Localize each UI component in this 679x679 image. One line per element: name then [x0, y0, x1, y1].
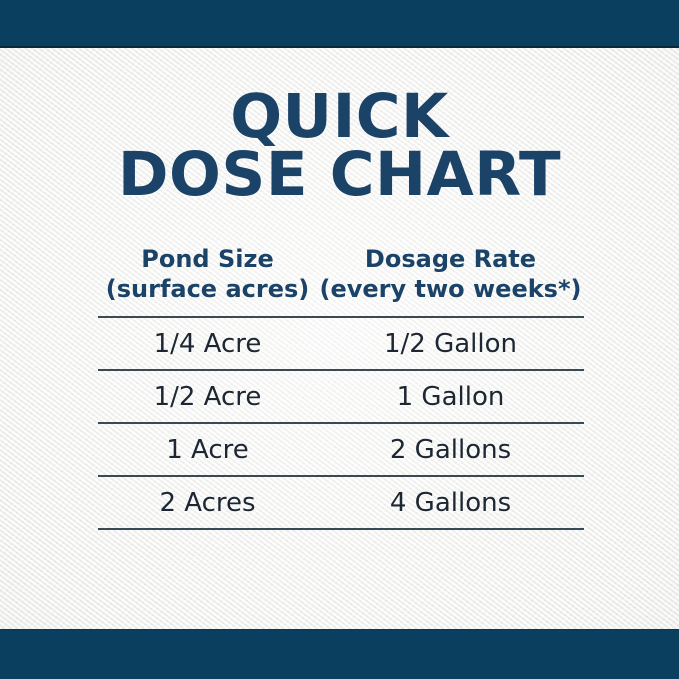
table-row: 2 Acres 4 Gallons — [98, 476, 584, 529]
quick-dose-chart-poster: QUICK DOSE CHART Pond Size (surface acre… — [0, 0, 679, 679]
cell-pond-size: 2 Acres — [98, 476, 317, 529]
column-header-pond-size: Pond Size (surface acres) — [98, 244, 317, 317]
cell-pond-size: 1/4 Acre — [98, 317, 317, 370]
column-header-dosage-rate: Dosage Rate (every two weeks*) — [317, 244, 584, 317]
table-row: 1 Acre 2 Gallons — [98, 423, 584, 476]
cell-pond-size: 1 Acre — [98, 423, 317, 476]
column-header-pond-size-sub: (surface acres) — [98, 274, 317, 304]
cell-dosage-rate: 2 Gallons — [317, 423, 584, 476]
poster-content: QUICK DOSE CHART Pond Size (surface acre… — [0, 46, 679, 630]
dose-chart-table: Pond Size (surface acres) Dosage Rate (e… — [98, 244, 584, 530]
table-body: 1/4 Acre 1/2 Gallon 1/2 Acre 1 Gallon 1 … — [98, 317, 584, 529]
cell-pond-size: 1/2 Acre — [98, 370, 317, 423]
page-title-line-1: QUICK — [0, 88, 679, 146]
top-navy-band — [0, 0, 679, 48]
bottom-navy-band — [0, 629, 679, 679]
cell-dosage-rate: 1/2 Gallon — [317, 317, 584, 370]
table-row: 1/4 Acre 1/2 Gallon — [98, 317, 584, 370]
table-header-row: Pond Size (surface acres) Dosage Rate (e… — [98, 244, 584, 317]
cell-dosage-rate: 1 Gallon — [317, 370, 584, 423]
column-header-dosage-rate-main: Dosage Rate — [317, 244, 584, 274]
cell-dosage-rate: 4 Gallons — [317, 476, 584, 529]
page-title: QUICK DOSE CHART — [0, 88, 679, 204]
table-header: Pond Size (surface acres) Dosage Rate (e… — [98, 244, 584, 317]
column-header-dosage-rate-sub: (every two weeks*) — [317, 274, 584, 304]
table-row: 1/2 Acre 1 Gallon — [98, 370, 584, 423]
page-title-line-2: DOSE CHART — [0, 146, 679, 204]
column-header-pond-size-main: Pond Size — [98, 244, 317, 274]
